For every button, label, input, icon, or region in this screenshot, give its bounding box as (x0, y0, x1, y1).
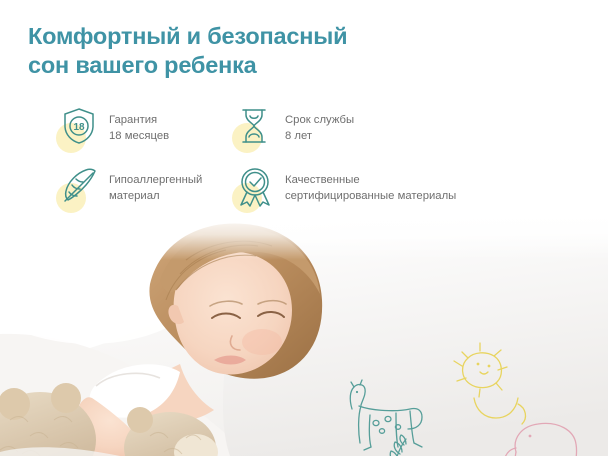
feature-certified-label: Качественные сертифицированные материалы (285, 173, 456, 204)
feature-list: 18 Гарантия 18 месяцев Срок службы 8 лет (56, 106, 526, 226)
feature-hypoallergenic-label: Гипоаллергенный материал (109, 173, 202, 204)
shield-badge-number: 18 (73, 122, 85, 133)
award-check-icon (232, 166, 278, 212)
hero-photo (0, 214, 608, 456)
feature-warranty-label: Гарантия 18 месяцев (109, 113, 169, 144)
feature-lifespan: Срок службы 8 лет (232, 106, 526, 166)
page-title: Комфортный и безопасный сон вашего ребен… (28, 22, 347, 80)
feature-certified: Качественные сертифицированные материалы (232, 166, 526, 226)
feature-lifespan-label: Срок службы 8 лет (285, 113, 354, 144)
sleeping-child-photo (0, 214, 608, 456)
promo-banner: Комфортный и безопасный сон вашего ребен… (0, 0, 608, 456)
shield-18-icon: 18 (56, 106, 102, 152)
hourglass-icon (232, 106, 278, 152)
feature-hypoallergenic: Гипоаллергенный материал (56, 166, 232, 226)
feature-warranty: 18 Гарантия 18 месяцев (56, 106, 232, 166)
feather-icon (56, 166, 102, 212)
